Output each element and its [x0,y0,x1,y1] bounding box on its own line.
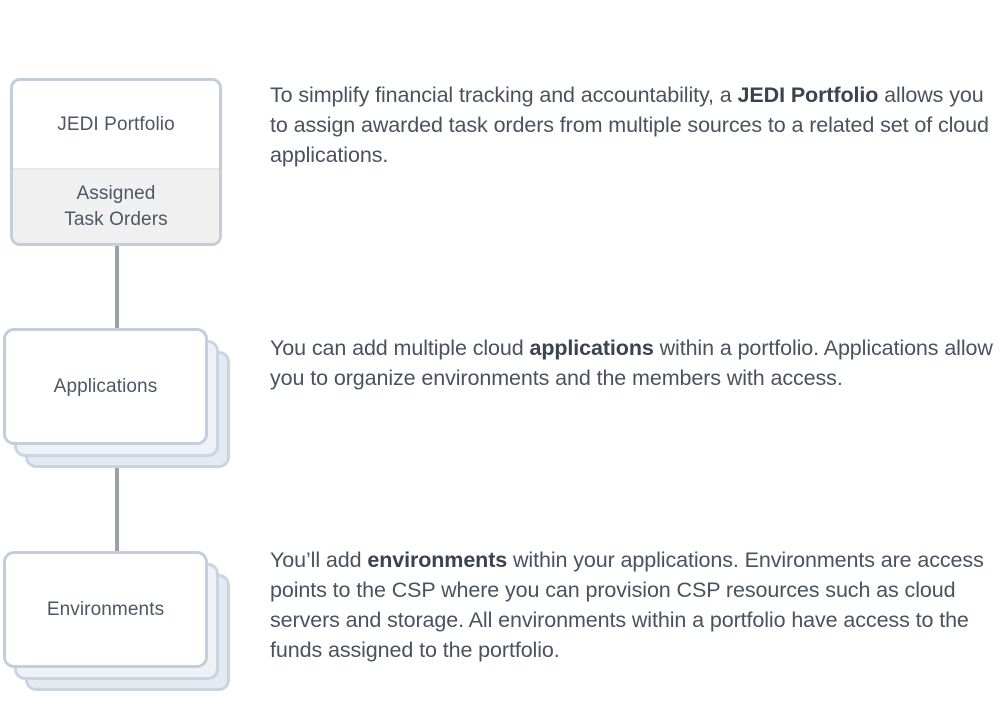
portfolio-task-orders-section: Assigned Task Orders [13,170,219,243]
environments-label: Environments [47,597,164,622]
text-segment-0: You’ll add [270,548,367,572]
node-environments[interactable]: Environments [3,551,233,694]
connector-portfolio-to-applications [115,244,119,330]
node-jedi-portfolio[interactable]: JEDI Portfolio Assigned Task Orders [10,78,222,246]
connector-applications-to-environments [115,466,119,553]
assigned-task-orders-label: Assigned Task Orders [64,181,168,231]
text-segment-0: To simplify financial tracking and accou… [270,83,738,107]
text-segment-1: JEDI Portfolio [738,83,879,107]
assigned-task-orders-line-1: Assigned [77,183,156,204]
applications-description: You can add multiple cloud applications … [270,333,1000,393]
applications-label: Applications [54,374,158,399]
assigned-task-orders-line-2: Task Orders [64,209,168,230]
text-segment-1: applications [529,336,653,360]
environments-description: You’ll add environments within your appl… [270,545,1000,665]
environments-card-layer-front[interactable]: Environments [3,551,208,668]
portfolio-description: To simplify financial tracking and accou… [270,80,1000,170]
applications-card-layer-front[interactable]: Applications [3,328,208,445]
diagram-canvas: JEDI Portfolio Assigned Task Orders Appl… [0,0,1000,707]
portfolio-title-section: JEDI Portfolio [13,81,219,170]
text-segment-0: You can add multiple cloud [270,336,529,360]
node-applications[interactable]: Applications [3,328,233,470]
text-segment-1: environments [367,548,507,572]
portfolio-label: JEDI Portfolio [57,112,175,137]
